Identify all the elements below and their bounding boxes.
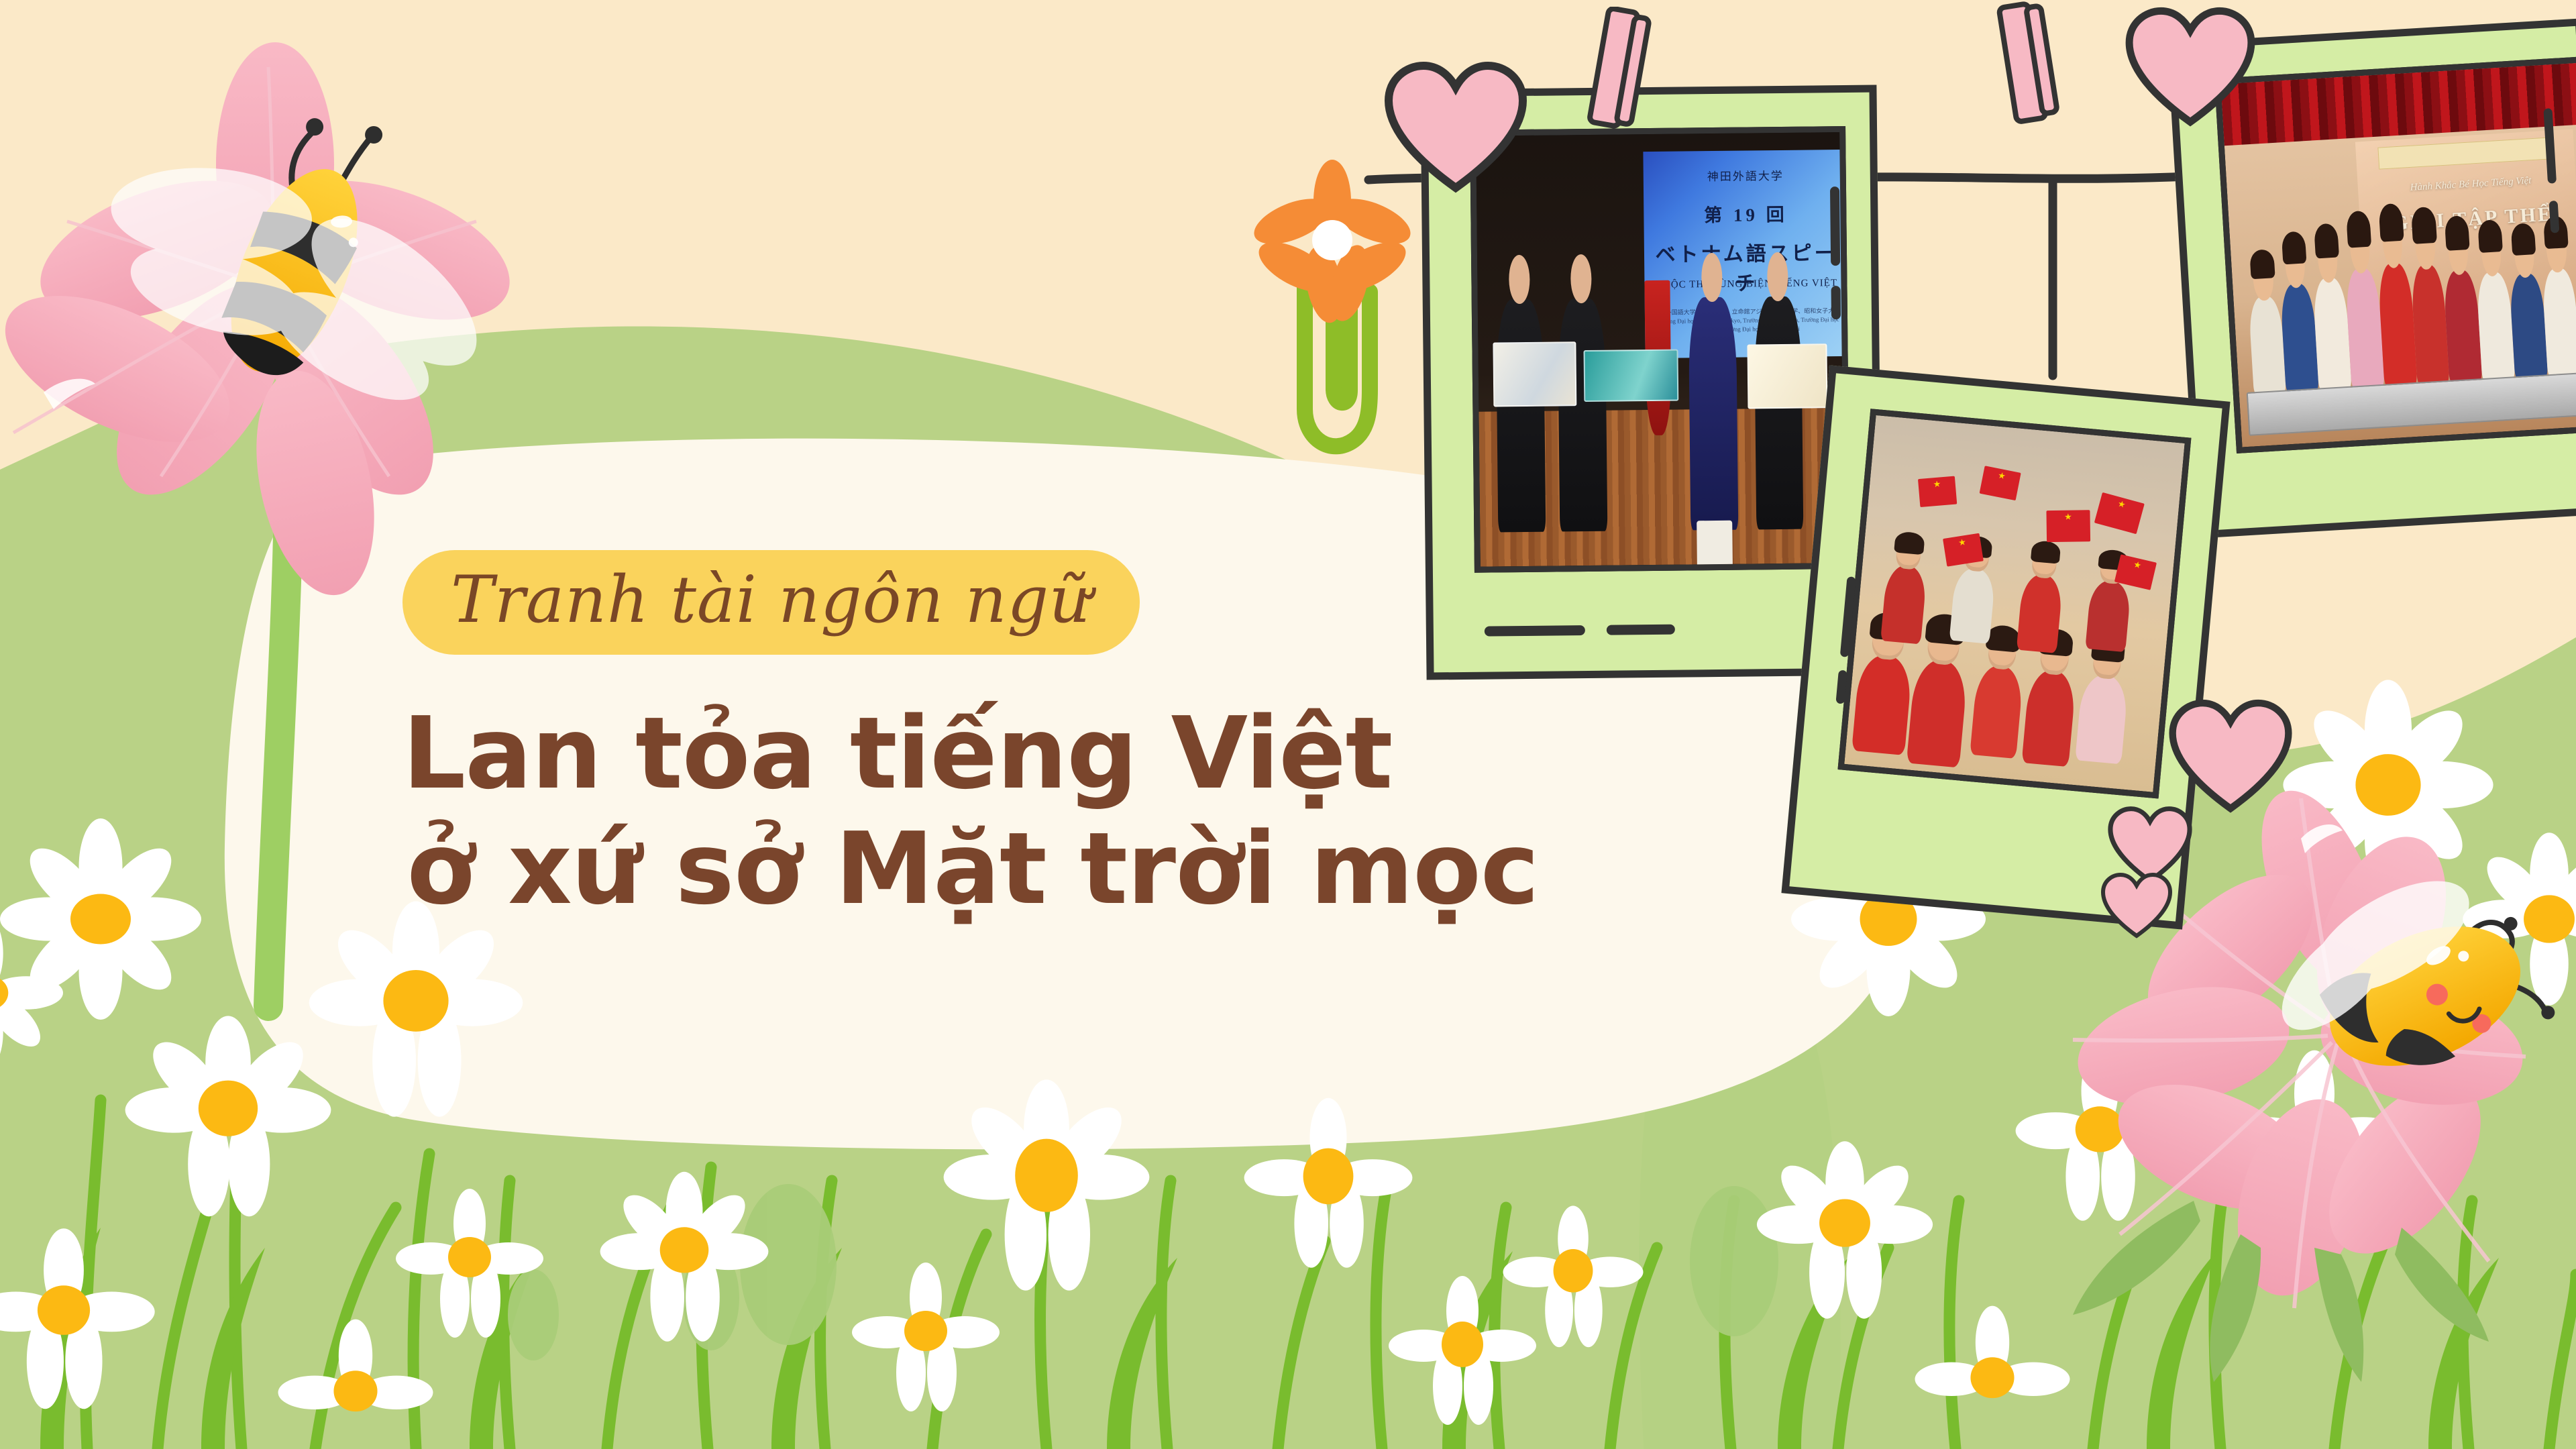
slide-participants: 東京外国語大学、大阪大学、立命館アジア太平洋大学、昭和女子大学 / Trường… bbox=[1653, 307, 1841, 335]
child bbox=[2312, 277, 2352, 392]
presentation-screen: 神田外語大学 第 19 回 ベトナム語スピーチ CUỘC THI HÙNG BI… bbox=[1644, 150, 1849, 358]
vietnam-flag bbox=[1918, 476, 1957, 506]
child bbox=[2017, 573, 2063, 653]
frame-tick bbox=[1831, 286, 1841, 319]
photo-children-with-flags bbox=[1837, 409, 2191, 798]
caption-dash bbox=[1607, 625, 1675, 635]
child bbox=[1949, 567, 1996, 644]
slide-title-vi: CUỘC THI HÙNG BIỆN TIẾNG VIỆT bbox=[1653, 278, 1840, 291]
poster-canvas: 神田外語大学 第 19 回 ベトナム語スピーチ CUỘC THI HÙNG BI… bbox=[0, 0, 2576, 1449]
child bbox=[2541, 267, 2576, 378]
heart-icon bbox=[2167, 698, 2294, 815]
child bbox=[2085, 579, 2131, 652]
child bbox=[2022, 668, 2077, 767]
clothespin-icon bbox=[1989, 0, 2070, 127]
child bbox=[1851, 653, 1913, 755]
vietnam-flag bbox=[2094, 492, 2145, 534]
prize-board bbox=[1493, 341, 1577, 407]
slide-university: 神田外語大学 bbox=[1652, 166, 1839, 184]
child bbox=[2280, 282, 2319, 393]
heart-icon bbox=[1382, 60, 1529, 195]
heart-icon bbox=[2100, 872, 2173, 939]
person bbox=[1688, 297, 1738, 530]
certificate bbox=[1747, 343, 1827, 409]
child bbox=[1970, 663, 2024, 758]
child bbox=[1880, 564, 1927, 645]
caption-dash bbox=[1485, 625, 1585, 637]
slide-edition: 第 19 回 bbox=[1652, 199, 1840, 227]
vietnam-flag bbox=[1943, 533, 1984, 567]
frame-tick bbox=[1830, 186, 1840, 266]
photo-children-on-stage: Hành Khắc Bé Học Tiếng Việt GIẢI TẬP THỂ bbox=[2214, 56, 2576, 453]
person bbox=[1496, 299, 1546, 532]
vietnam-flag bbox=[1980, 466, 2021, 500]
prize-board bbox=[1584, 350, 1679, 402]
clothespin-icon bbox=[1580, 7, 1660, 134]
child bbox=[2075, 674, 2129, 765]
person bbox=[1754, 297, 1804, 529]
frame-tick bbox=[2549, 201, 2560, 233]
child bbox=[1907, 658, 1968, 767]
person bbox=[1558, 299, 1607, 531]
vietnam-flag bbox=[2046, 510, 2090, 542]
heart-icon bbox=[2123, 0, 2257, 134]
child bbox=[2248, 295, 2286, 395]
